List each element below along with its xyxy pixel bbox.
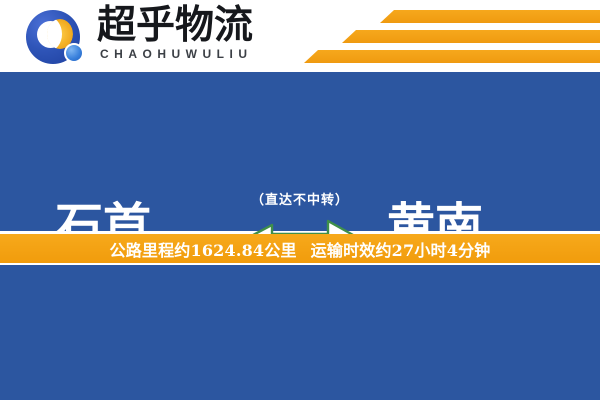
brand-name-en: CHAOHUWULIU	[100, 47, 253, 61]
stripe-1	[380, 10, 600, 23]
speed-stripes-icon	[290, 8, 600, 66]
duration-text: 运输时效约27小时4分钟	[311, 237, 491, 261]
route-info-bar: 公路里程约1624.84公里 运输时效约27小时4分钟	[0, 234, 600, 263]
company-logo	[26, 10, 88, 64]
header-bar: 超乎物流 CHAOHUWULIU	[0, 0, 600, 72]
distance-text: 公路里程约1624.84公里	[110, 237, 297, 261]
brand-name-cn: 超乎物流	[97, 5, 253, 47]
direct-route-note: （直达不中转）	[0, 189, 600, 208]
logistics-route-banner: 超乎物流 CHAOHUWULIU 石首 （直达不中转） 【往返运输】 黄南 公路…	[0, 0, 600, 400]
coverage-panel: 同仁县、尖扎县、泽库县、河南蒙古族自治县	[0, 265, 600, 400]
route-panel: 石首 （直达不中转） 【往返运输】 黄南	[0, 72, 600, 231]
stripe-2	[342, 30, 600, 43]
stripe-3	[304, 50, 600, 63]
logo-accent-dot-icon	[64, 43, 84, 63]
